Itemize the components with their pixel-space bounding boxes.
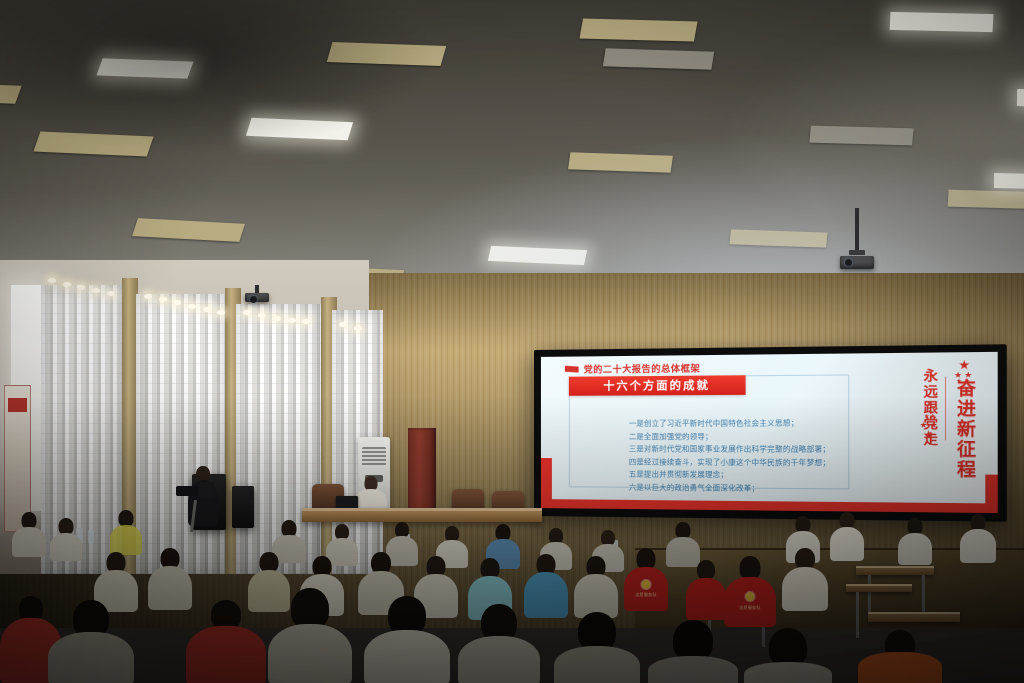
ceiling-tile: [131, 218, 244, 242]
ceiling-tile: [603, 48, 714, 70]
downlight: [243, 310, 251, 315]
torso: [458, 636, 540, 683]
audience-member: [364, 596, 450, 683]
ceiling-light-panel: [97, 59, 194, 79]
downlight: [144, 294, 152, 299]
wall-poster: [4, 385, 32, 532]
audience-member: [12, 512, 46, 556]
audience-member: [110, 510, 142, 554]
folding-desk: [856, 566, 934, 575]
camera-body: [198, 482, 214, 498]
downlight: [63, 282, 71, 287]
ceiling-light-panel: [994, 173, 1024, 190]
ceiling-tile: [33, 131, 153, 156]
volunteer: [858, 630, 942, 683]
torso: [648, 656, 738, 683]
torso: [50, 533, 82, 561]
downlight: [48, 278, 56, 283]
red-flag-icon: [565, 366, 579, 373]
folding-desk: [846, 584, 912, 592]
ceiling-tile: [810, 126, 914, 145]
pa-speaker: [232, 486, 254, 528]
slide-title: 党的二十大报告的总体框架: [565, 361, 701, 375]
slide-content: 党的二十大报告的总体框架 十六个方面的成就 一是创立了习近平新时代中国特色社会主…: [541, 352, 998, 513]
head: [697, 560, 715, 580]
torso: [554, 646, 640, 683]
torso: [12, 527, 46, 557]
slogan-divider: [945, 377, 946, 440]
audience-member: [960, 514, 996, 562]
volunteer-vest: [858, 652, 942, 683]
projector-right: [840, 208, 874, 274]
projector-pole: [255, 285, 259, 293]
projector-pole: [855, 208, 859, 252]
audience-member: [744, 628, 832, 683]
volunteer: 志愿服务队: [624, 548, 668, 610]
curtain-panel: [136, 294, 224, 574]
audience-member: [50, 518, 82, 560]
audience-member: [648, 620, 738, 683]
audience-member: [48, 600, 134, 683]
ceiling-light-panel: [890, 12, 994, 33]
slide-slogan-block: ★ ★★ ★★ 奋进新征程 永远跟党走 ★★ ★★ ★: [854, 362, 978, 500]
slide-bullet-list: 一是创立了习近平新时代中国特色社会主义思想； 二是全面加强党的领导； 三是对新时…: [588, 418, 893, 493]
downlight: [273, 316, 281, 321]
vest-emblem-icon: [642, 580, 651, 589]
torso: [364, 630, 450, 683]
desk-leg: [868, 575, 871, 615]
torso: [830, 527, 864, 561]
downlight: [354, 326, 362, 331]
audience-member: [574, 556, 618, 616]
volunteer-vest: [686, 578, 726, 620]
ceiling-tile: [0, 82, 22, 104]
audience-member: [554, 612, 640, 683]
star-icon: ★: [923, 429, 937, 441]
torso: [110, 525, 142, 555]
vest-text: 志愿服务队: [635, 592, 657, 598]
torso: [960, 529, 996, 563]
ceiling-tile: [579, 19, 697, 42]
star-group-top: ★ ★★ ★★: [954, 360, 975, 386]
audience-member: [898, 518, 932, 564]
torso: [898, 533, 932, 565]
audience-member: [782, 548, 828, 610]
ceiling-light-panel: [488, 246, 588, 265]
torso: [48, 632, 134, 683]
downlight: [107, 291, 115, 296]
projector-mount: [849, 250, 865, 255]
projector-left: [244, 285, 270, 309]
star-group-bottom: ★★ ★★ ★: [920, 415, 940, 441]
torso: [782, 567, 828, 611]
conference-hall-photo: 党的二十大报告的总体框架 十六个方面的成就 一是创立了习近平新时代中国特色社会主…: [0, 0, 1024, 683]
side-door: [408, 428, 436, 514]
desk-leg: [922, 575, 925, 617]
downlight: [188, 304, 196, 309]
ceiling-tile: [568, 152, 673, 172]
volunteer: 志愿服务队: [724, 556, 776, 624]
torso: [268, 624, 352, 683]
presenter-desk: [302, 508, 542, 522]
projector-body: [840, 256, 874, 269]
folding-desk: [868, 612, 960, 622]
volunteer-vest: 志愿服务队: [624, 567, 668, 611]
videographer: [176, 466, 224, 526]
vest-text: 志愿服务队: [739, 605, 761, 611]
projector-body: [245, 293, 269, 302]
torso: [744, 662, 832, 683]
volunteer: [686, 560, 726, 618]
ceiling-tile: [947, 189, 1024, 208]
audience-member: [458, 604, 540, 683]
downlight: [203, 307, 211, 312]
water-bottle: [88, 530, 94, 544]
ceiling-light-panel: [246, 118, 353, 141]
downlight: [288, 318, 296, 323]
downlight: [77, 285, 85, 290]
downlight: [92, 288, 100, 293]
audience-member: [268, 588, 352, 683]
slide-accent-bottom: [541, 499, 998, 513]
torso: [148, 566, 192, 610]
slide-banner: 十六个方面的成就: [569, 375, 746, 395]
ceiling-tile: [326, 41, 445, 65]
audience-member: [148, 548, 192, 608]
slide-title-text: 党的二十大报告的总体框架: [584, 361, 701, 375]
vest-emblem-icon: [746, 592, 755, 601]
ceiling-light-panel: [1016, 89, 1024, 108]
slogan-right: 奋进新征程: [950, 379, 978, 480]
presentation-screen: 党的二十大报告的总体框架 十六个方面的成就 一是创立了习近平新时代中国特色社会主…: [534, 344, 1007, 521]
ceiling-tile: [729, 229, 828, 247]
downlight: [258, 313, 266, 318]
audience-member: [830, 512, 864, 560]
volunteer: [186, 600, 266, 683]
volunteer-vest: [186, 626, 266, 683]
downlight: [159, 297, 167, 302]
star-icon: ★★: [956, 380, 973, 386]
